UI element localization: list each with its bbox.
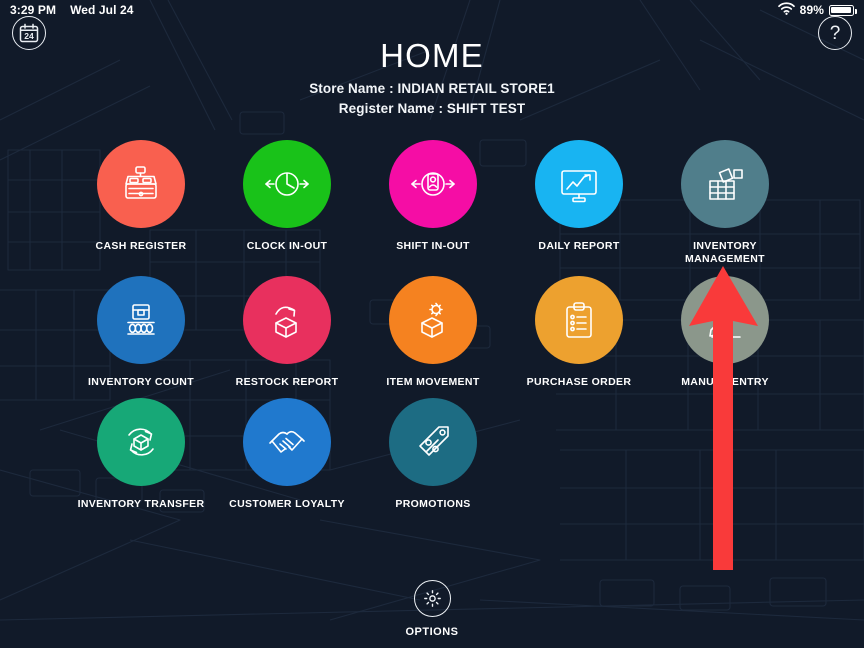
tile-label: CASH REGISTER xyxy=(74,240,209,253)
tile-label: PURCHASE ORDER xyxy=(512,376,647,389)
options-label: OPTIONS xyxy=(405,626,458,638)
tile-restock-report[interactable]: RESTOCK REPORT xyxy=(214,276,360,389)
register-name-line: Register Name : SHIFT TEST xyxy=(0,101,864,116)
restock-report-icon xyxy=(263,296,311,344)
tile-circle[interactable] xyxy=(243,140,331,228)
tile-label: SHIFT IN-OUT xyxy=(366,240,501,253)
tile-circle[interactable] xyxy=(243,276,331,364)
battery-percent: 89% xyxy=(800,3,824,17)
tile-inventory-transfer[interactable]: INVENTORY TRANSFER xyxy=(68,398,214,511)
menu-row-2: INVENTORY COUNT RESTOCK REPORT xyxy=(0,276,864,389)
options-button[interactable]: OPTIONS xyxy=(0,580,864,638)
tile-circle[interactable] xyxy=(681,276,769,364)
tile-circle[interactable] xyxy=(389,398,477,486)
promotions-icon xyxy=(409,418,457,466)
inventory-transfer-icon xyxy=(117,418,165,466)
wifi-icon xyxy=(778,2,795,18)
menu-grid: CASH REGISTER CLOCK IN-OUT xyxy=(0,140,864,521)
page-header: HOME Store Name : INDIAN RETAIL STORE1 R… xyxy=(0,38,864,116)
tile-manual-entry[interactable]: MANUAL ENTRY xyxy=(652,276,798,389)
menu-row-3: INVENTORY TRANSFER CUSTOMER LOYALTY xyxy=(0,398,864,511)
help-button[interactable]: ? xyxy=(818,16,852,50)
page-title: HOME xyxy=(0,38,864,74)
tile-circle[interactable] xyxy=(535,140,623,228)
tile-label: RESTOCK REPORT xyxy=(220,376,355,389)
tile-shift-in-out[interactable]: SHIFT IN-OUT xyxy=(360,140,506,267)
tile-daily-report[interactable]: DAILY REPORT xyxy=(506,140,652,267)
clock-in-out-icon xyxy=(263,160,311,208)
tile-circle[interactable] xyxy=(243,398,331,486)
status-time: 3:29 PM xyxy=(10,3,56,17)
item-movement-icon xyxy=(409,296,457,344)
calendar-icon[interactable]: 24 xyxy=(12,16,46,50)
help-label: ? xyxy=(830,24,841,43)
tile-label: INVENTORY TRANSFER xyxy=(74,498,209,511)
tile-circle[interactable] xyxy=(97,398,185,486)
gear-icon xyxy=(422,588,443,609)
tile-inventory-management[interactable]: INVENTORY MANAGEMENT xyxy=(652,140,798,267)
shift-in-out-icon xyxy=(409,160,457,208)
tile-circle[interactable] xyxy=(389,140,477,228)
purchase-order-icon xyxy=(555,296,603,344)
tile-circle[interactable] xyxy=(97,140,185,228)
tile-inventory-count[interactable]: INVENTORY COUNT xyxy=(68,276,214,389)
customer-loyalty-icon xyxy=(263,418,311,466)
tile-label: ITEM MOVEMENT xyxy=(366,376,501,389)
status-date: Wed Jul 24 xyxy=(70,3,133,17)
tile-circle[interactable] xyxy=(389,276,477,364)
menu-row-1: CASH REGISTER CLOCK IN-OUT xyxy=(0,140,864,267)
tile-circle[interactable] xyxy=(535,276,623,364)
tile-customer-loyalty[interactable]: CUSTOMER LOYALTY xyxy=(214,398,360,511)
cash-register-icon xyxy=(117,160,165,208)
tile-label: CUSTOMER LOYALTY xyxy=(220,498,355,511)
tile-label: CLOCK IN-OUT xyxy=(220,240,355,253)
tile-label: PROMOTIONS xyxy=(366,498,501,511)
daily-report-icon xyxy=(555,160,603,208)
tile-promotions[interactable]: PROMOTIONS xyxy=(360,398,506,511)
tile-label: MANUAL ENTRY xyxy=(658,376,793,389)
inventory-management-icon xyxy=(701,160,749,208)
battery-icon xyxy=(829,5,854,16)
tile-item-movement[interactable]: ITEM MOVEMENT xyxy=(360,276,506,389)
tile-circle[interactable] xyxy=(681,140,769,228)
tile-label: DAILY REPORT xyxy=(512,240,647,253)
tile-label: INVENTORY COUNT xyxy=(74,376,209,389)
manual-entry-icon xyxy=(701,296,749,344)
tile-circle[interactable] xyxy=(97,276,185,364)
tile-purchase-order[interactable]: PURCHASE ORDER xyxy=(506,276,652,389)
tile-cash-register[interactable]: CASH REGISTER xyxy=(68,140,214,267)
tile-clock-in-out[interactable]: CLOCK IN-OUT xyxy=(214,140,360,267)
status-bar: 3:29 PM Wed Jul 24 89% xyxy=(0,0,864,20)
calendar-day-number: 24 xyxy=(24,31,34,41)
options-circle[interactable] xyxy=(414,580,451,617)
tile-label: INVENTORY MANAGEMENT xyxy=(658,240,793,267)
inventory-count-icon xyxy=(117,296,165,344)
store-name-line: Store Name : INDIAN RETAIL STORE1 xyxy=(0,81,864,96)
